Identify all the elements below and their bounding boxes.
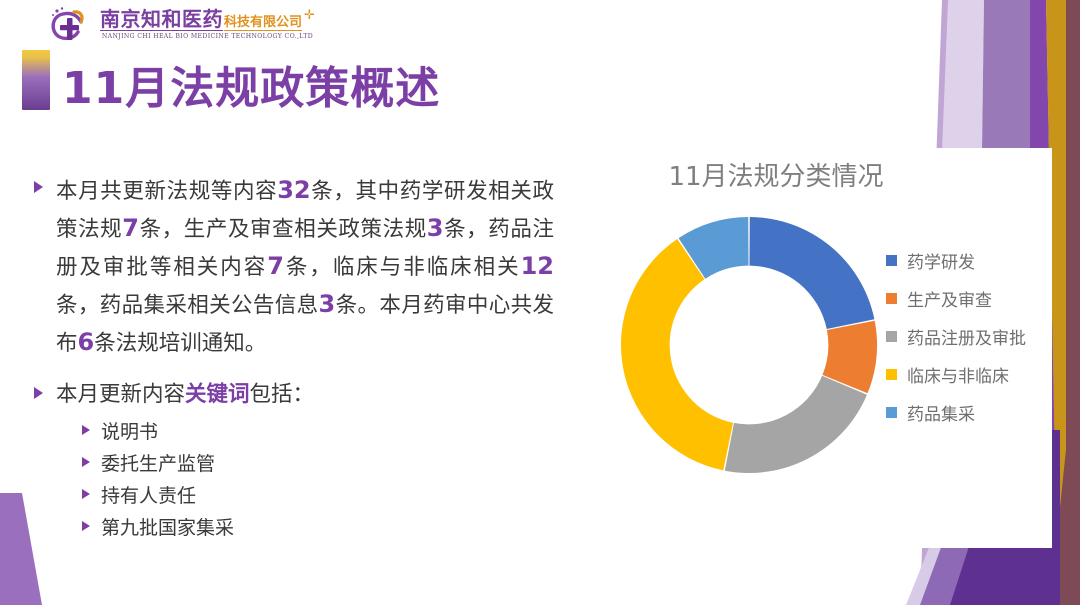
logo-mark-icon — [48, 6, 94, 44]
legend-item[interactable]: 药品集采 — [886, 400, 1026, 425]
logo-text-block: 南京知和医药 科技有限公司 ✛ NANJING CHI HEAL BIO MED… — [100, 9, 315, 40]
legend-swatch-icon — [886, 255, 897, 266]
keywords-heading-prefix: 本月更新内容 — [56, 382, 185, 407]
summary-count-value: 7 — [122, 214, 139, 242]
keywords-heading: 本月更新内容关键词包括： — [56, 378, 554, 412]
summary-count-value: 3 — [427, 214, 444, 242]
legend-label: 药品注册及审批 — [907, 324, 1026, 349]
legend-label: 药品集采 — [907, 400, 975, 425]
donut-slice — [725, 376, 867, 473]
bullet-triangle-icon — [82, 521, 90, 531]
donut-slice — [621, 239, 733, 470]
legend-item[interactable]: 生产及审查 — [886, 286, 1026, 311]
legend-swatch-icon — [886, 293, 897, 304]
legend-label: 生产及审查 — [907, 286, 992, 311]
summary-text-run: 本月共更新法规等内容 — [56, 179, 277, 204]
summary-count-value: 7 — [267, 252, 284, 280]
chart-panel: 11月法规分类情况 药学研发生产及审查药品注册及审批临床与非临床药品集采 — [556, 148, 1052, 548]
keyword-list-item: 说明书 — [82, 418, 554, 446]
legend-label: 药学研发 — [907, 248, 975, 273]
bullet-triangle-icon — [82, 457, 90, 467]
bullet-item-keywords: 本月更新内容关键词包括： — [34, 378, 554, 412]
keywords-heading-suffix: 包括： — [250, 382, 315, 407]
content-body: 本月共更新法规等内容32条，其中药学研发相关政策法规7条，生产及审查相关政策法规… — [34, 172, 554, 546]
bullet-triangle-icon — [82, 425, 90, 435]
page-title: 11月法规政策概述 — [62, 52, 440, 116]
summary-text-run: 条，药品集采相关公告信息 — [56, 293, 319, 318]
bullet-triangle-icon — [34, 387, 43, 399]
bullet-triangle-icon — [82, 489, 90, 499]
logo-plus-icon: ✛ — [304, 9, 315, 22]
summary-count-value: 12 — [521, 252, 554, 280]
logo-company-name-cn: 南京知和医药 — [100, 9, 223, 31]
donut-chart — [614, 210, 884, 480]
keyword-label: 第九批国家集采 — [101, 514, 234, 542]
chart-title: 11月法规分类情况 — [606, 156, 946, 193]
bullet-item-summary: 本月共更新法规等内容32条，其中药学研发相关政策法规7条，生产及审查相关政策法规… — [34, 172, 554, 362]
donut-slice — [749, 217, 874, 329]
logo-company-suffix-cn: 科技有限公司 — [224, 16, 302, 31]
keyword-list: 说明书委托生产监管持有人责任第九批国家集采 — [82, 418, 554, 542]
legend-label: 临床与非临床 — [907, 362, 1009, 387]
keyword-label: 委托生产监管 — [101, 450, 215, 478]
keyword-label: 说明书 — [101, 418, 158, 446]
summary-text-run: 条，临床与非临床相关 — [284, 255, 521, 280]
legend-swatch-icon — [886, 331, 897, 342]
legend-swatch-icon — [886, 407, 897, 418]
keywords-heading-highlight: 关键词 — [185, 382, 250, 407]
summary-count-value: 6 — [78, 328, 95, 356]
legend-swatch-icon — [886, 369, 897, 380]
summary-count-value: 32 — [277, 176, 310, 204]
keyword-label: 持有人责任 — [101, 482, 196, 510]
keyword-list-item: 持有人责任 — [82, 482, 554, 510]
title-accent-bar — [22, 50, 50, 110]
legend-item[interactable]: 临床与非临床 — [886, 362, 1026, 387]
summary-text-run: 条，生产及审查相关政策法规 — [139, 217, 427, 242]
keyword-list-item: 委托生产监管 — [82, 450, 554, 478]
summary-count-value: 3 — [319, 290, 336, 318]
keyword-list-item: 第九批国家集采 — [82, 514, 554, 542]
legend-item[interactable]: 药学研发 — [886, 248, 1026, 273]
summary-paragraph: 本月共更新法规等内容32条，其中药学研发相关政策法规7条，生产及审查相关政策法规… — [56, 172, 554, 362]
company-logo: 南京知和医药 科技有限公司 ✛ NANJING CHI HEAL BIO MED… — [48, 4, 315, 46]
bullet-triangle-icon — [34, 181, 43, 193]
logo-company-name-en: NANJING CHI HEAL BIO MEDICINE TECHNOLOGY… — [100, 34, 315, 40]
chart-legend: 药学研发生产及审查药品注册及审批临床与非临床药品集采 — [886, 248, 1026, 438]
slide-canvas: 南京知和医药 科技有限公司 ✛ NANJING CHI HEAL BIO MED… — [0, 0, 1080, 605]
summary-text-run: 条法规培训通知。 — [94, 331, 266, 356]
legend-item[interactable]: 药品注册及审批 — [886, 324, 1026, 349]
